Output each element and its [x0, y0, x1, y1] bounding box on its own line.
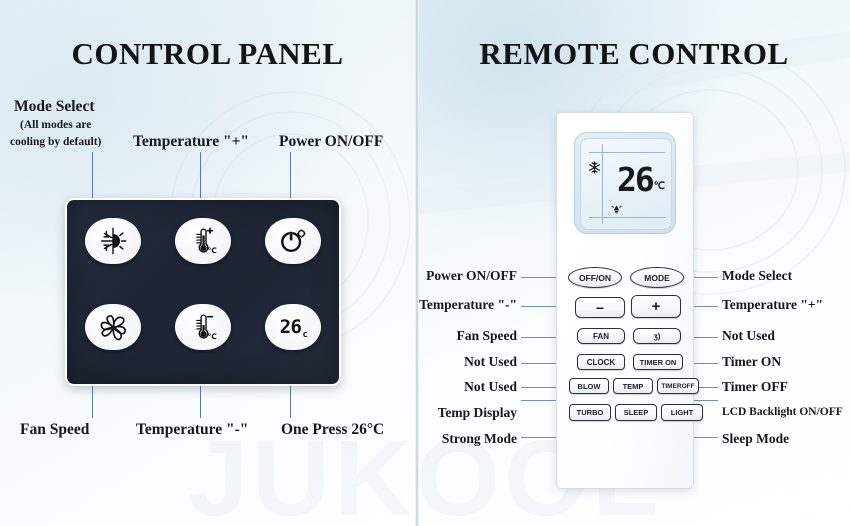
lcd-line-top — [589, 152, 665, 153]
callout-fan-speed: Fan Speed — [20, 421, 89, 439]
label-not-used-blow: Not Used — [351, 379, 517, 395]
preset-26-unit: c — [302, 330, 307, 340]
label-not-used-clock: Not Used — [351, 354, 517, 370]
svg-text:℃: ℃ — [208, 246, 217, 255]
lcd-line-bottom — [589, 217, 665, 218]
bulb-icon — [611, 203, 622, 221]
power-icon — [278, 227, 308, 255]
preset-26-button[interactable]: 26c — [265, 304, 321, 350]
fan-icon — [98, 312, 129, 343]
screenshot-root: JUKOOL CONTROL PANEL Mode Select (All mo… — [0, 0, 850, 526]
control-panel-title: CONTROL PANEL — [0, 36, 415, 72]
callout-mode-select: Mode Select — [14, 98, 94, 116]
mode-button[interactable]: MODE — [630, 267, 684, 288]
label-fan-speed: Fan Speed — [351, 328, 517, 344]
timer-off-button[interactable]: TIMEROFF — [657, 378, 699, 394]
leader-power-on-off — [290, 152, 291, 198]
temp-up-button[interactable]: ℃ — [175, 218, 231, 264]
leader-temperature-down — [200, 382, 201, 418]
label-timer-off: Timer OFF — [722, 379, 788, 395]
lcd-temperature-unit: ℃ — [654, 181, 665, 192]
label-power-on-off: Power ON/OFF — [351, 268, 517, 284]
thermometer-plus-icon: ℃ — [189, 226, 217, 256]
callout-temperature-up: Temperature "+" — [133, 133, 249, 151]
fan-button[interactable]: FAN — [577, 328, 625, 344]
label-temperature-down: Temperature "-" — [351, 297, 517, 313]
remote-control-device: 26℃ OFF/ON MODE − + FAN ʒ) CLOCK TIMER O… — [556, 112, 694, 489]
temp-button[interactable]: TEMP — [613, 378, 653, 394]
remote-control-title: REMOTE CONTROL — [418, 36, 850, 72]
svg-text:℃: ℃ — [208, 332, 217, 341]
turbo-button[interactable]: TURBO — [569, 404, 611, 421]
callout-temperature-down: Temperature "-" — [136, 421, 248, 439]
mode-button[interactable] — [85, 218, 141, 264]
section-divider — [415, 0, 419, 526]
control-panel-device: ℃ — [65, 198, 341, 386]
label-sleep-mode: Sleep Mode — [722, 431, 789, 447]
thermometer-minus-icon: ℃ — [189, 312, 217, 342]
snowflake-sun-icon — [98, 226, 128, 256]
leader-fan-speed — [92, 382, 93, 418]
label-timer-on: Timer ON — [722, 354, 781, 370]
leader-one-press — [290, 382, 291, 418]
timer-on-button[interactable]: TIMER ON — [633, 354, 683, 370]
leader-temperature-up — [200, 152, 201, 198]
label-temperature-up: Temperature "+" — [722, 297, 823, 313]
callout-power-on-off: Power ON/OFF — [279, 133, 383, 151]
preset-26-value: 26 — [280, 316, 302, 338]
label-not-used-swing: Not Used — [722, 328, 775, 344]
seven-segment-26: 26c — [280, 316, 307, 338]
plus-button[interactable]: + — [631, 295, 681, 318]
offon-button[interactable]: OFF/ON — [568, 267, 622, 288]
label-temp-display: Temp Display — [351, 405, 517, 421]
leader-mode-select — [92, 152, 93, 198]
lcd-line-vertical — [602, 144, 603, 224]
callout-mode-select-label: Mode Select — [14, 98, 94, 115]
lcd-temperature: 26℃ — [617, 163, 664, 205]
minus-button[interactable]: − — [575, 297, 625, 318]
label-lcd-backlight: LCD Backlight ON/OFF — [722, 406, 843, 418]
snowflake-icon — [588, 161, 601, 179]
callout-mode-select-sub2: cooling by default) — [10, 136, 101, 148]
clock-button[interactable]: CLOCK — [577, 354, 625, 370]
lcd-display: 26℃ — [580, 138, 672, 230]
light-button[interactable]: LIGHT — [661, 404, 703, 421]
swing-button[interactable]: ʒ) — [633, 328, 681, 344]
callout-mode-select-sub1: (All modes are — [20, 119, 91, 131]
temp-down-button[interactable]: ℃ — [175, 304, 231, 350]
power-button[interactable] — [265, 218, 321, 264]
label-mode-select: Mode Select — [722, 268, 792, 284]
label-strong-mode: Strong Mode — [351, 431, 517, 447]
sleep-button[interactable]: SLEEP — [615, 404, 657, 421]
lcd-temperature-value: 26 — [617, 160, 653, 199]
fan-button[interactable] — [85, 304, 141, 350]
lcd-bezel: 26℃ — [574, 132, 676, 234]
blow-button[interactable]: BLOW — [569, 378, 609, 394]
